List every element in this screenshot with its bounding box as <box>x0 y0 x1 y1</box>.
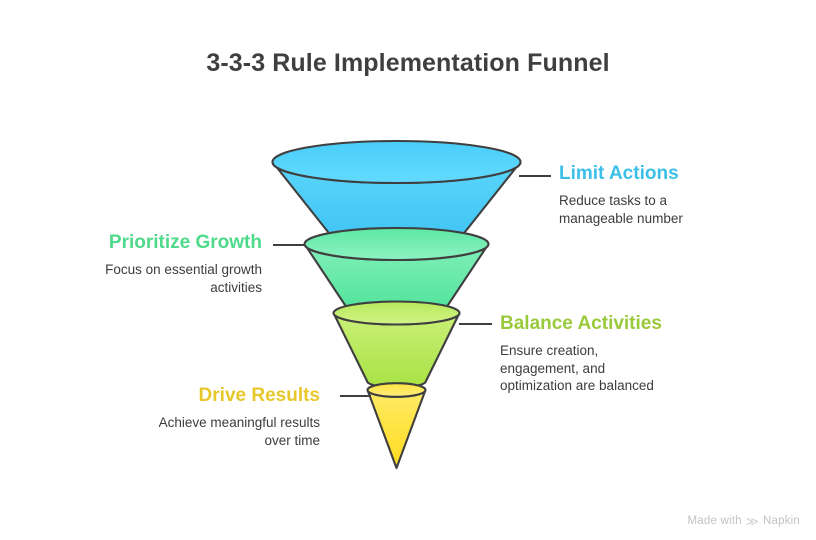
desc-line: optimization are balanced <box>500 377 740 395</box>
funnel-label-balance-activities: Balance Activities Ensure creation, enga… <box>500 313 740 395</box>
desc-line: Focus on essential growth <box>40 261 262 279</box>
napkin-watermark: Made with ≫ Napkin <box>687 515 800 528</box>
funnel-label-title-prioritize-growth: Prioritize Growth <box>40 232 262 254</box>
funnel-label-drive-results: Drive Results Achieve meaningful results… <box>100 385 320 449</box>
funnel-label-desc-prioritize-growth: Focus on essential growth activities <box>40 261 262 296</box>
funnel-segment-drive-results <box>368 383 426 468</box>
funnel-label-title-limit-actions: Limit Actions <box>559 163 789 185</box>
diagram-canvas: 3-3-3 Rule Implementation Funnel <box>0 0 816 540</box>
funnel-label-desc-balance-activities: Ensure creation, engagement, and optimiz… <box>500 342 740 395</box>
funnel-label-title-balance-activities: Balance Activities <box>500 313 740 335</box>
desc-line: engagement, and <box>500 360 740 378</box>
desc-line: over time <box>100 432 320 450</box>
funnel-segment-limit-actions <box>273 141 521 249</box>
funnel-segment-balance-activities <box>334 302 460 388</box>
napkin-logo-icon: ≫ <box>746 515 759 528</box>
watermark-prefix: Made with <box>687 515 741 527</box>
page-title: 3-3-3 Rule Implementation Funnel <box>0 49 816 78</box>
funnel-label-limit-actions: Limit Actions Reduce tasks to a manageab… <box>559 163 789 227</box>
funnel-label-desc-drive-results: Achieve meaningful results over time <box>100 414 320 449</box>
funnel-label-title-drive-results: Drive Results <box>100 385 320 407</box>
desc-line: Achieve meaningful results <box>100 414 320 432</box>
funnel-label-prioritize-growth: Prioritize Growth Focus on essential gro… <box>40 232 262 296</box>
funnel-segment-prioritize-growth <box>305 228 489 316</box>
watermark-brand: Napkin <box>763 515 800 527</box>
funnel-label-desc-limit-actions: Reduce tasks to a manageable number <box>559 192 789 227</box>
desc-line: activities <box>40 279 262 297</box>
desc-line: Ensure creation, <box>500 342 740 360</box>
desc-line: manageable number <box>559 210 789 228</box>
desc-line: Reduce tasks to a <box>559 192 789 210</box>
